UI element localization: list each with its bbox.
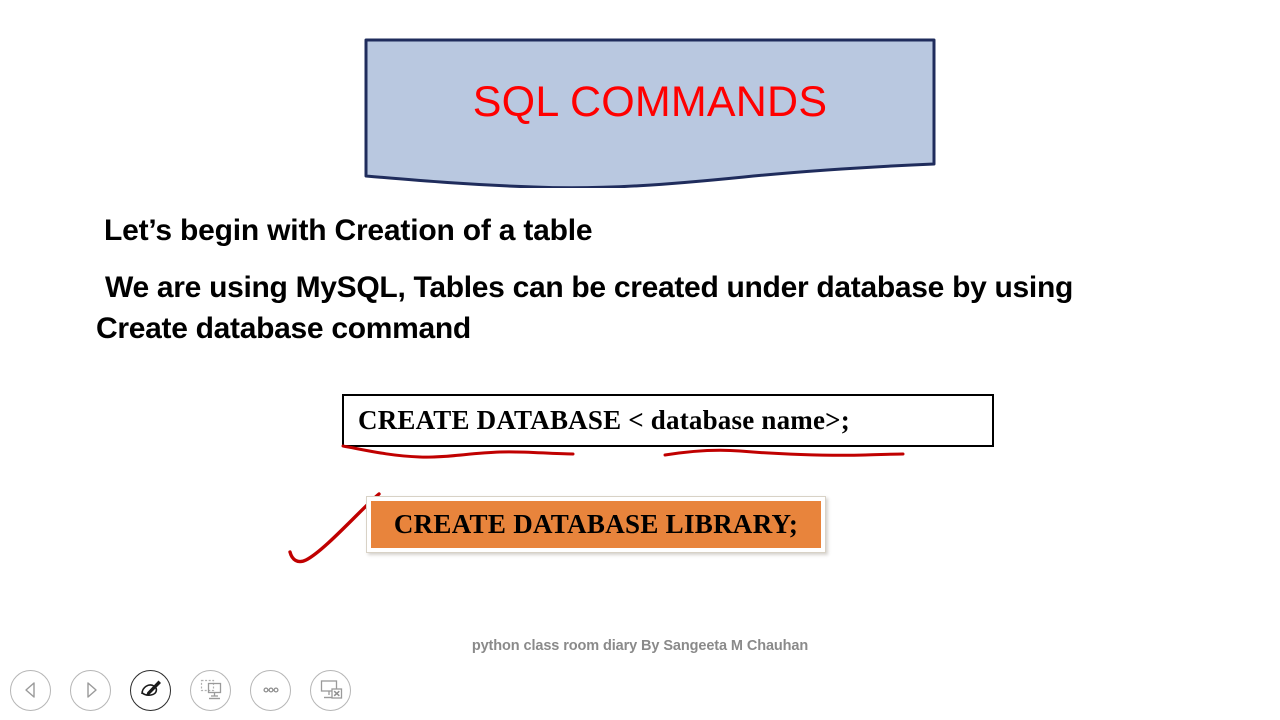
end-show-button[interactable] <box>310 670 351 711</box>
page-title: SQL COMMANDS <box>364 38 936 166</box>
body-line-intro: Let’s begin with Creation of a table <box>104 214 592 248</box>
next-slide-button[interactable] <box>70 670 111 711</box>
triangle-right-icon <box>81 680 101 700</box>
example-box: CREATE DATABASE LIBRARY; <box>366 496 826 553</box>
triangle-left-icon <box>21 680 41 700</box>
previous-slide-button[interactable] <box>10 670 51 711</box>
end-show-icon <box>318 677 344 703</box>
ellipsis-icon <box>259 678 283 702</box>
slide-layout-icon <box>198 677 224 703</box>
slideshow-toolbar <box>10 668 351 712</box>
body-line-3: Create database command <box>96 308 1196 349</box>
example-box-fill: CREATE DATABASE LIBRARY; <box>371 501 821 548</box>
more-options-button[interactable] <box>250 670 291 711</box>
slide-view-button[interactable] <box>190 670 231 711</box>
pen-icon <box>138 677 164 703</box>
syntax-box: CREATE DATABASE < database name>; <box>342 394 994 447</box>
syntax-box-text: CREATE DATABASE < database name>; <box>344 405 850 436</box>
pen-tools-button[interactable] <box>130 670 171 711</box>
body-line-2: We are using MySQL, Tables can be create… <box>96 267 1196 308</box>
body-paragraph: We are using MySQL, Tables can be create… <box>96 267 1196 349</box>
title-banner: SQL COMMANDS <box>364 38 936 188</box>
slide-canvas: SQL COMMANDS Let’s begin with Creation o… <box>0 0 1280 720</box>
footer-credit: python class room diary By Sangeeta M Ch… <box>0 638 1280 654</box>
example-box-text: CREATE DATABASE LIBRARY; <box>394 509 798 540</box>
